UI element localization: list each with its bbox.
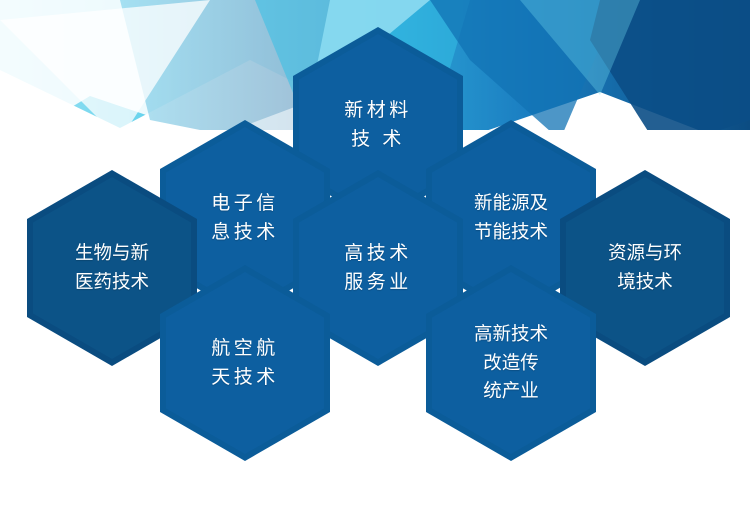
hex-label: 航空航 天技术: [211, 334, 279, 393]
hex-inner: 高新技术 改造传 统产业: [432, 272, 590, 454]
hex-label: 生物与新 医药技术: [75, 239, 149, 296]
hex-label: 资源与环 境技术: [608, 239, 682, 296]
diagram-canvas: 新材料 技 术 电子信 息技术 新能源及 节能技术 生物与新 医药技术 高技术 …: [0, 0, 750, 522]
hex-inner: 航空航 天技术: [166, 272, 324, 454]
hex-label: 高新技术 改造传 统产业: [474, 320, 548, 406]
hex-label: 新能源及 节能技术: [474, 189, 548, 246]
hex-label: 新材料 技 术: [344, 96, 412, 155]
hexagon-cluster: 新材料 技 术 电子信 息技术 新能源及 节能技术 生物与新 医药技术 高技术 …: [0, 0, 750, 522]
hex-label: 电子信 息技术: [211, 189, 279, 248]
hex-label: 高技术 服务业: [344, 239, 412, 298]
